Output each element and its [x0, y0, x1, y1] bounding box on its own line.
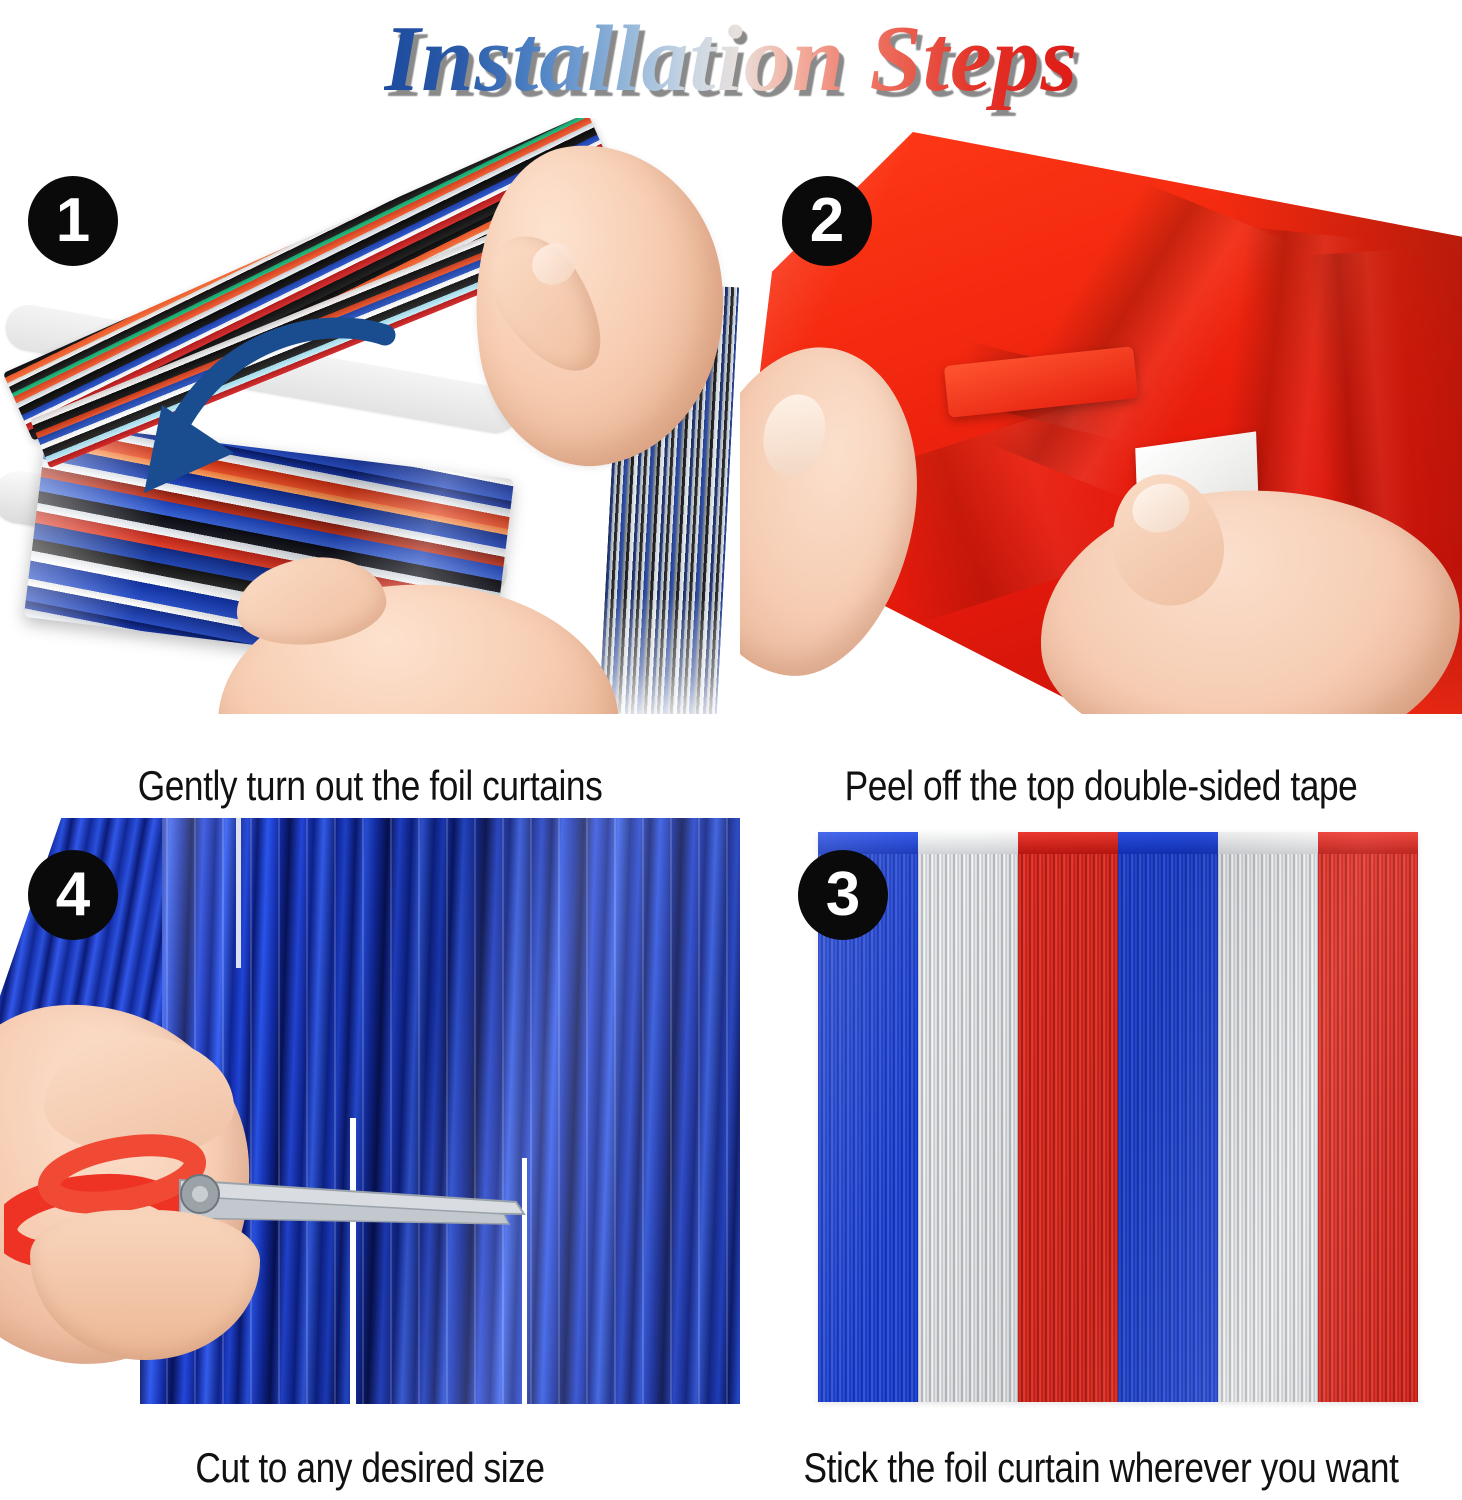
- step-badge-2-number: 2: [810, 190, 844, 252]
- fringe-strands: [918, 852, 1018, 1402]
- page-title-text: Installation Steps: [384, 7, 1079, 111]
- scene-hanging-fringe-curtain: 3: [740, 818, 1462, 1408]
- step-1-caption: Gently turn out the foil curtains: [59, 762, 681, 810]
- scene-cut-to-size: 4: [0, 818, 740, 1408]
- curtain-stripe-red-1: [1018, 832, 1118, 1402]
- scene-peel-double-sided-tape: 2: [740, 118, 1462, 714]
- curtain-stripe-red-2: [1318, 832, 1418, 1402]
- scene-turn-out-foil-curtains: 1: [0, 118, 740, 714]
- step-4-photo: 4: [0, 818, 740, 1408]
- step-card-3: 3 Stick the foil curtain wherever you wa…: [740, 818, 1462, 1500]
- step-card-4: 4 Cut to any desired size: [0, 818, 740, 1500]
- page-title: Installation Steps Installation Steps: [384, 12, 1079, 106]
- step-badge-4: 4: [28, 850, 118, 940]
- step-badge-1-number: 1: [56, 190, 90, 252]
- curtain-top-band: [1018, 832, 1118, 854]
- step-badge-2: 2: [782, 176, 872, 266]
- step-badge-3: 3: [798, 850, 888, 940]
- fringe-curtain: [818, 832, 1418, 1402]
- curtain-top-band: [1118, 832, 1218, 854]
- fringe-strands: [1218, 852, 1318, 1402]
- fringe-strands: [1018, 852, 1118, 1402]
- step-badge-4-number: 4: [56, 864, 90, 926]
- curved-arrow-icon: [110, 313, 430, 523]
- curtain-top-band: [1218, 832, 1318, 854]
- step-3-photo: 3: [740, 818, 1462, 1408]
- step-4-caption: Cut to any desired size: [59, 1444, 681, 1492]
- installation-steps-infographic: Installation Steps Installation Steps: [0, 0, 1462, 1500]
- curtain-stripe-silver-1: [918, 832, 1018, 1402]
- steps-grid: 1 Gently turn out the foil curtains: [0, 118, 1462, 1500]
- step-2-caption: Peel off the top double-sided tape: [798, 762, 1404, 810]
- step-card-2: 2 Peel off the top double-sided tape: [740, 118, 1462, 818]
- fringe-strands: [1118, 852, 1218, 1402]
- page-title-container: Installation Steps Installation Steps: [0, 0, 1462, 118]
- step-2-photo: 2: [740, 118, 1462, 714]
- curtain-stripe-silver-2: [1218, 832, 1318, 1402]
- step-1-photo: 1: [0, 118, 740, 714]
- foil-gap: [236, 818, 241, 968]
- step-3-caption: Stick the foil curtain wherever you want: [798, 1444, 1404, 1492]
- curtain-stripe-blue-2: [1118, 832, 1218, 1402]
- curtain-top-band: [918, 832, 1018, 854]
- step-badge-3-number: 3: [826, 864, 860, 926]
- fringe-strands: [1318, 852, 1418, 1402]
- step-badge-1: 1: [28, 176, 118, 266]
- step-card-1: 1 Gently turn out the foil curtains: [0, 118, 740, 818]
- curtain-top-band: [1318, 832, 1418, 854]
